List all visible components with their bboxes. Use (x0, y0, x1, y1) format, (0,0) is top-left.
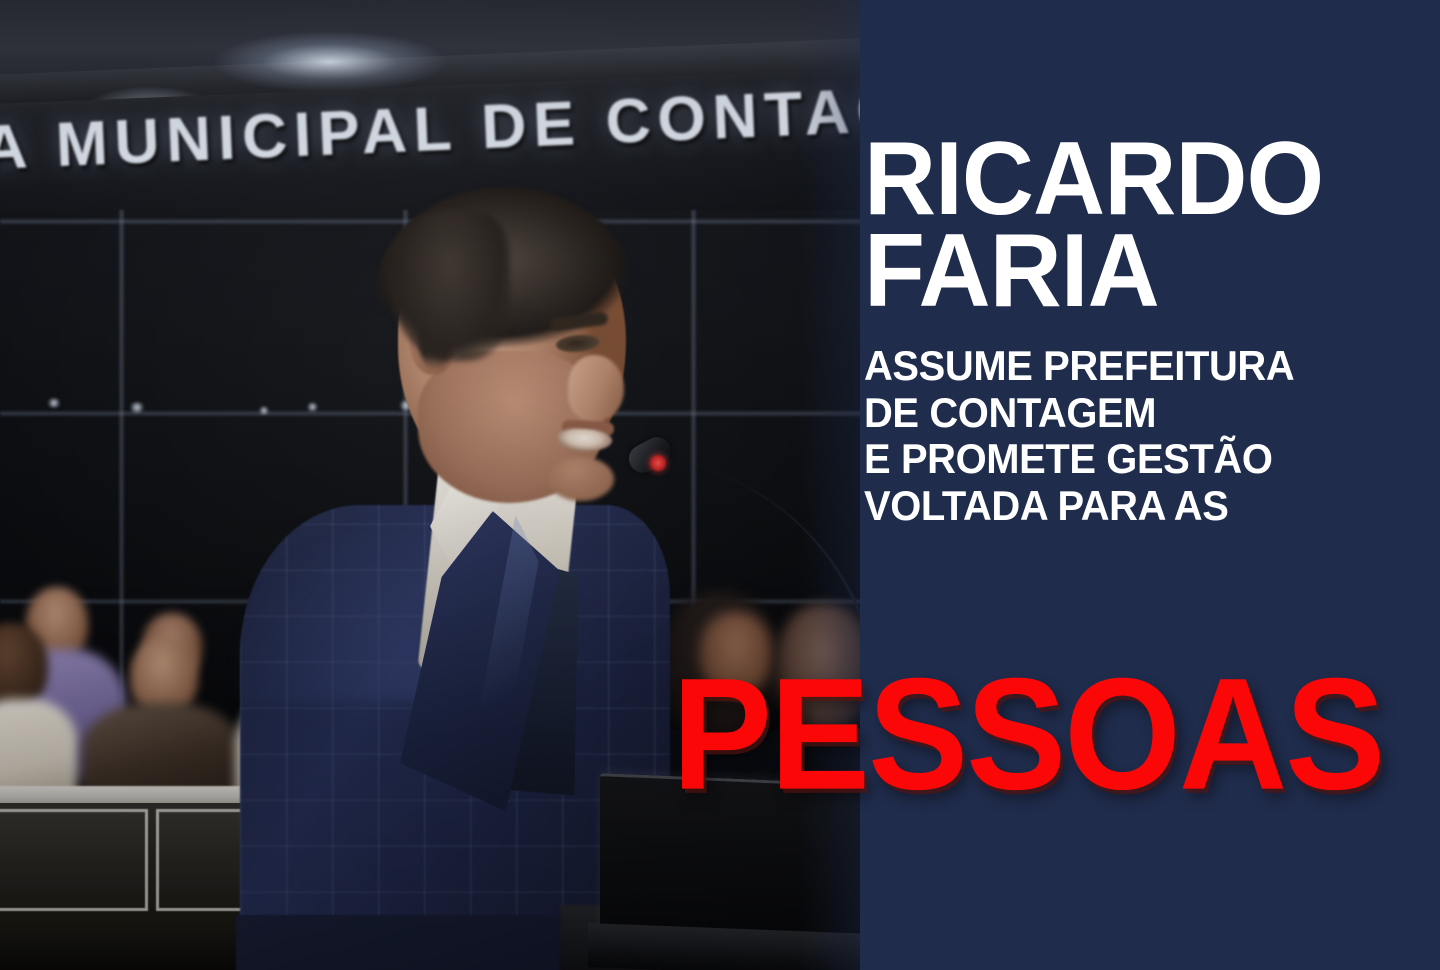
subheadline-block: ASSUME PREFEITURA DE CONTAGEM E PROMETE … (864, 343, 1396, 529)
hair-shadow (390, 211, 510, 361)
microphone-indicator-light (650, 455, 666, 471)
chin (548, 457, 614, 501)
subheadline-line-3: E PROMETE GESTÃO (864, 436, 1396, 483)
subheadline-line-4: VOLTADA PARA AS (864, 483, 1396, 530)
emphasis-word-pessoas: PESSOAS (672, 654, 1383, 813)
subheadline-line-1: ASSUME PREFEITURA (864, 343, 1396, 390)
poster-canvas: A MUNICIPAL DE CONTAGEM (0, 0, 1440, 970)
subheadline-line-2: DE CONTAGEM (864, 390, 1396, 437)
headline-line-2: FARIA (864, 226, 1402, 318)
nose (568, 355, 624, 421)
headline-block: RICARDO FARIA ASSUME PREFEITURA DE CONTA… (864, 134, 1424, 529)
